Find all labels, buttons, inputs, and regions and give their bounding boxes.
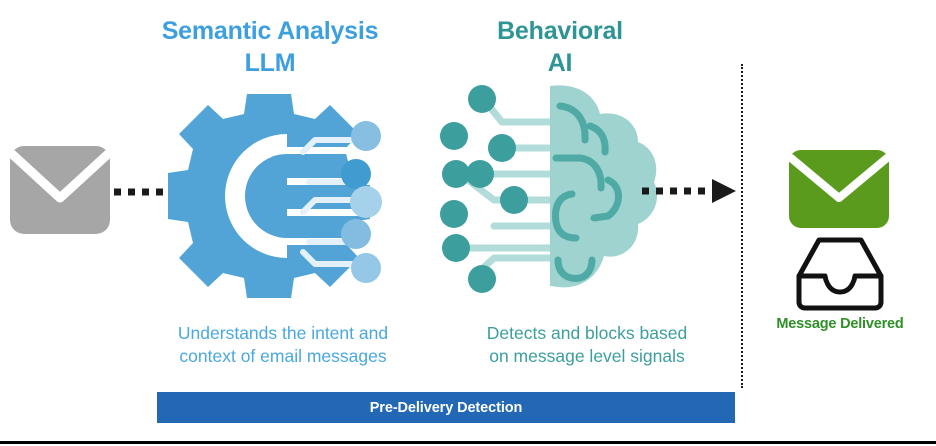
gear-circuit-illustration bbox=[163, 92, 389, 300]
delivered-envelope bbox=[787, 148, 891, 230]
input-envelope bbox=[8, 140, 112, 240]
brain-circuit-illustration bbox=[432, 82, 660, 296]
column-heading-behavioral-ai: Behavioral AI bbox=[438, 16, 682, 79]
heading-line-2: LLM bbox=[128, 48, 412, 80]
brain-circuit-traces bbox=[458, 100, 552, 278]
column-caption-semantic-analysis-llm: Understands the intent and context of em… bbox=[134, 322, 432, 368]
connector-ai-to-delivered bbox=[640, 176, 740, 206]
caption-line-2: context of email messages bbox=[134, 345, 432, 368]
inbox-tray bbox=[795, 234, 885, 310]
brain-circuit-icon bbox=[432, 82, 660, 296]
banner-label: Pre-Delivery Detection bbox=[370, 400, 523, 416]
diagram-canvas: Semantic Analysis LLM Behavioral AI bbox=[0, 0, 936, 446]
heading-line-1: Semantic Analysis bbox=[128, 16, 412, 48]
column-caption-behavioral-ai: Detects and blocks based on message leve… bbox=[444, 322, 730, 368]
pre-delivery-detection-banner: Pre-Delivery Detection bbox=[157, 392, 735, 423]
caption-line-1: Understands the intent and bbox=[134, 322, 432, 345]
envelope-icon bbox=[787, 148, 891, 230]
caption-line-2: on message level signals bbox=[444, 345, 730, 368]
pipeline-divider bbox=[741, 64, 743, 388]
inbox-tray-icon bbox=[795, 234, 885, 310]
heading-line-2: AI bbox=[438, 48, 682, 80]
caption-line-1: Detects and blocks based bbox=[444, 322, 730, 345]
dotted-line-icon bbox=[112, 178, 170, 206]
dotted-arrow-right-icon bbox=[640, 176, 740, 206]
gear-shape bbox=[168, 94, 371, 298]
delivered-status-label: Message Delivered bbox=[752, 316, 928, 332]
footer-rule bbox=[0, 441, 936, 444]
gear-circuit-icon bbox=[163, 92, 389, 300]
envelope-icon bbox=[8, 140, 112, 240]
heading-line-1: Behavioral bbox=[438, 16, 682, 48]
connector-input-to-llm bbox=[112, 178, 170, 206]
column-heading-semantic-analysis-llm: Semantic Analysis LLM bbox=[128, 16, 412, 79]
